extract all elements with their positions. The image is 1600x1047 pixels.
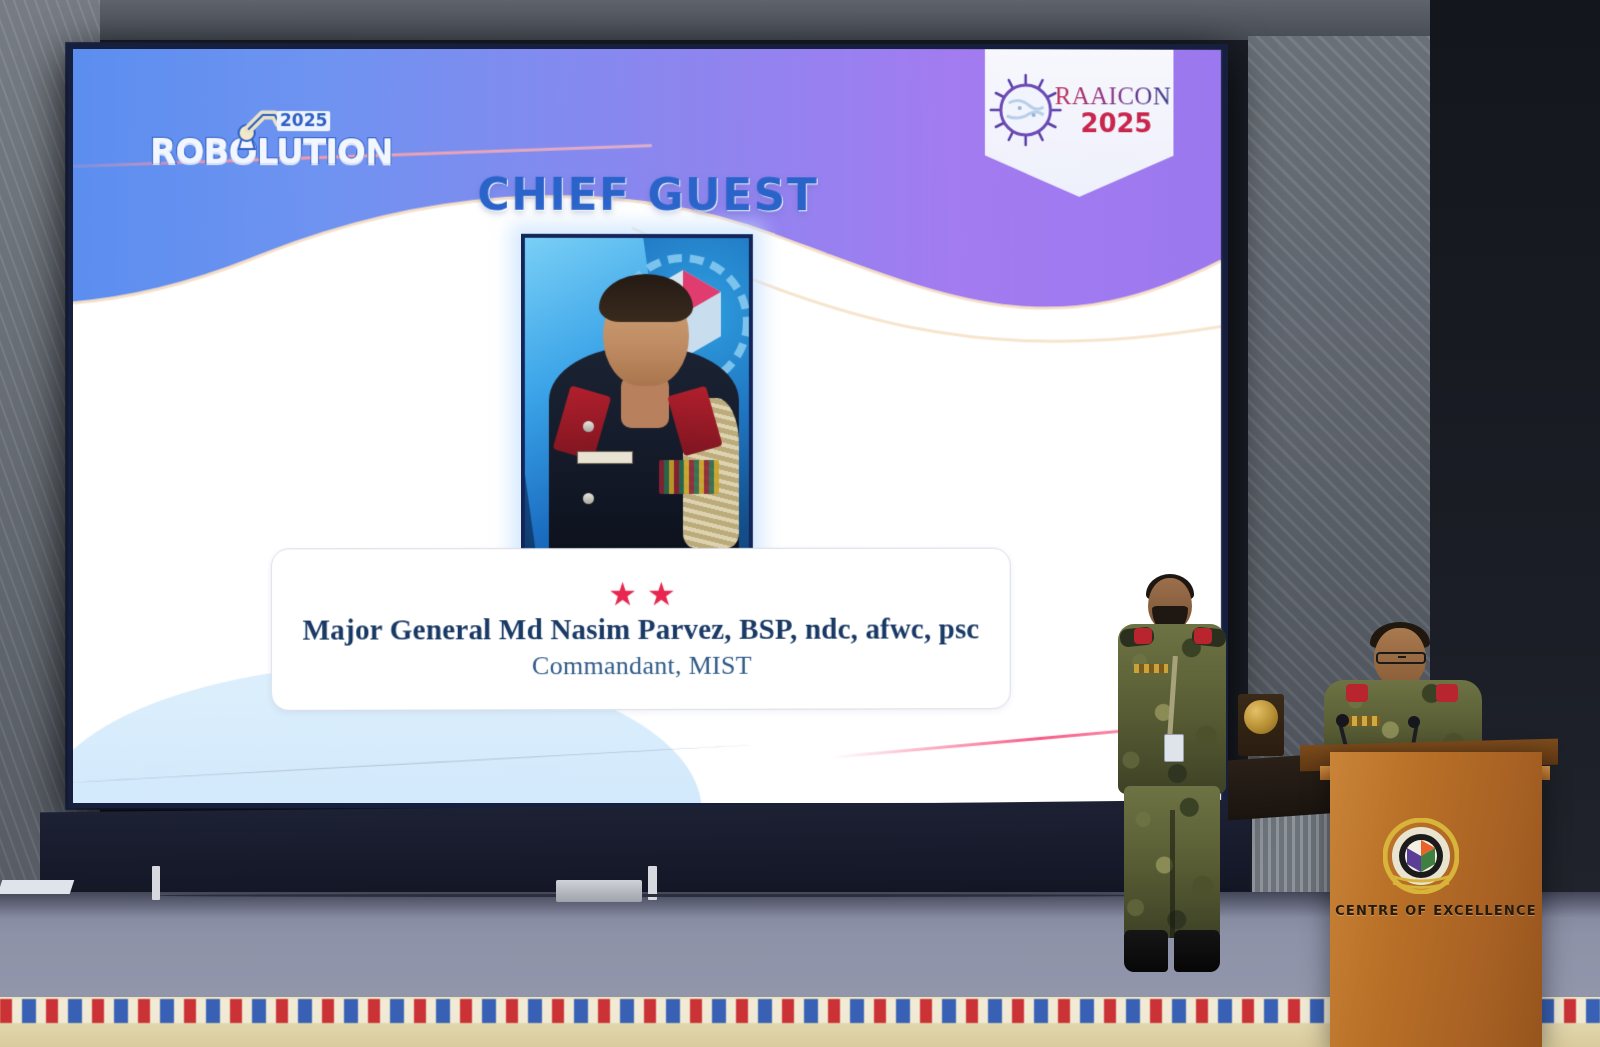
uniform-button-upper xyxy=(583,421,594,432)
officer-ribbon-bar xyxy=(1134,664,1168,673)
floor-paper xyxy=(0,880,74,894)
officer-boot-right xyxy=(1174,930,1220,972)
floor-equipment-box xyxy=(556,880,642,902)
microphone-head-left xyxy=(1336,714,1349,727)
uniform-button-lower xyxy=(583,493,594,504)
officer-epaulette-left xyxy=(1134,628,1152,644)
officer-boot-left xyxy=(1124,930,1168,972)
podium-label: CENTRE OF EXCELLENCE xyxy=(1330,904,1542,919)
portrait-medal-ribbons xyxy=(659,460,719,494)
microphone-head-right xyxy=(1408,716,1420,728)
star-icon: ★ xyxy=(647,577,676,609)
institution-emblem-icon xyxy=(1383,818,1459,894)
portrait-nameplate xyxy=(577,451,633,464)
speaker-epaulette-right xyxy=(1436,684,1458,702)
screen-support-post-left xyxy=(152,866,160,900)
chief-guest-portrait: MIST BANGLADESH xyxy=(521,234,753,552)
robolution-logo: ROBOLUTION 2025 xyxy=(150,109,341,170)
guest-name: Major General Md Nasim Parvez, BSP, ndc,… xyxy=(303,613,980,647)
podium xyxy=(1330,752,1542,1047)
speaker-epaulette-left xyxy=(1346,684,1368,702)
rank-stars: ★ ★ xyxy=(608,577,675,609)
star-icon: ★ xyxy=(608,578,637,610)
trophy-medallion xyxy=(1244,700,1278,734)
raaicon-gear-globe-icon xyxy=(987,71,1064,149)
floor-cable xyxy=(160,894,1150,897)
stage-scene: ROBOLUTION 2025 xyxy=(0,0,1600,1047)
officer-id-badge xyxy=(1164,734,1184,762)
raaicon-title: RAAICON xyxy=(1055,84,1171,109)
ceiling xyxy=(0,0,1600,40)
glasses-bridge xyxy=(1398,656,1406,658)
officer-epaulette-right xyxy=(1194,628,1212,644)
standing-officer xyxy=(1108,578,1238,990)
glasses-icon xyxy=(1376,652,1426,664)
projection-screen: ROBOLUTION 2025 xyxy=(69,46,1221,806)
page-title: CHIEF GUEST xyxy=(69,169,1221,222)
officer-leg-gap xyxy=(1170,810,1175,938)
raaicon-year: 2025 xyxy=(1081,111,1153,137)
stage-base-skirt xyxy=(40,800,1250,905)
guest-name-card: ★ ★ Major General Md Nasim Parvez, BSP, … xyxy=(271,548,1011,711)
robolution-year: 2025 xyxy=(277,111,331,131)
guest-title: Commandant, MIST xyxy=(532,650,752,680)
